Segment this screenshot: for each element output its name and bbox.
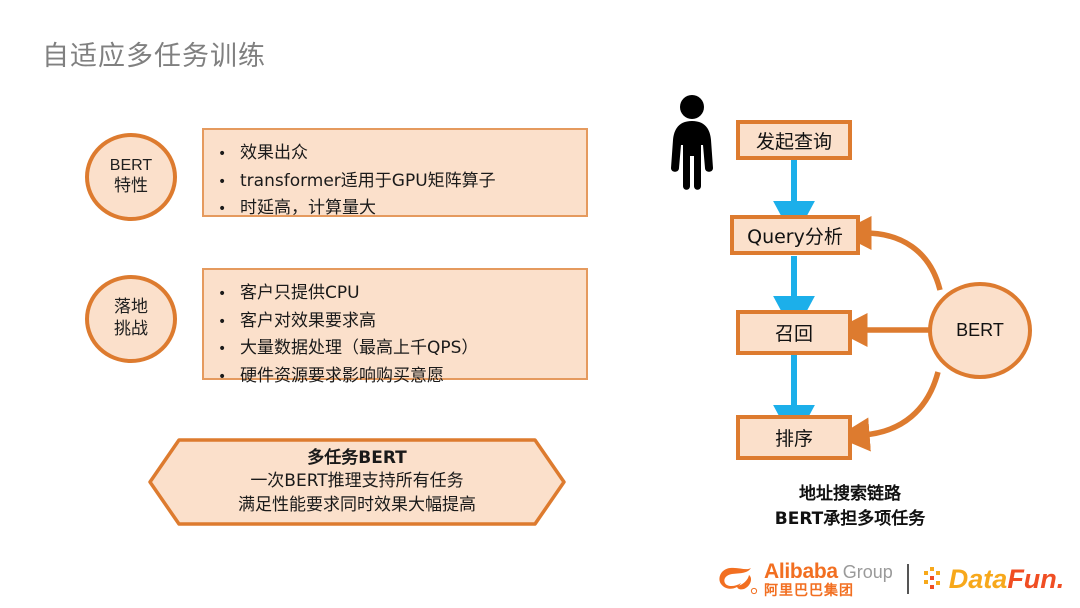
person-icon (671, 95, 713, 190)
flow-node-recall[interactable]: 召回 (736, 310, 852, 355)
flow-node-query-start[interactable]: 发起查询 (736, 120, 852, 160)
bullet-marker-icon: • (218, 198, 240, 221)
bullet-marker-icon: • (218, 143, 240, 166)
datafun-wordmark-fun: Fun. (1007, 564, 1064, 595)
ellipse-line-1: BERT (110, 156, 152, 176)
logo-divider (907, 564, 909, 594)
list-item: • 效果出众 (218, 140, 578, 168)
banner-heading: 多任务BERT (307, 447, 407, 470)
list-item: • 客户只提供CPU (218, 280, 578, 308)
shape-ellipse-landing-challenges: 落地 挑战 (85, 275, 177, 363)
list-item-label: 客户对效果要求高 (240, 308, 578, 336)
datafun-dots-icon (923, 565, 949, 593)
flow-node-label: 召回 (775, 319, 813, 346)
ellipse-line-2: 挑战 (114, 319, 148, 341)
logo-bar: Alibaba Group 阿里巴巴集团 Data Fun. (715, 556, 1064, 602)
flow-node-label: BERT (956, 320, 1004, 341)
banner-line-1: 一次BERT推理支持所有任务 (250, 470, 463, 493)
flow-connectors (660, 90, 1080, 490)
flow-node-label: 排序 (775, 424, 813, 451)
bullet-marker-icon: • (218, 366, 240, 389)
flow-node-label: 发起查询 (756, 127, 832, 154)
alibaba-mark-icon (715, 562, 759, 596)
bullet-box-landing-challenges: • 客户只提供CPU • 客户对效果要求高 • 大量数据处理（最高上千QPS） … (202, 268, 588, 380)
list-item: • 大量数据处理（最高上千QPS） (218, 335, 578, 363)
list-item: • 时延高，计算量大 (218, 195, 578, 223)
flow-node-query-analysis[interactable]: Query分析 (730, 215, 860, 255)
shape-ellipse-bert-features: BERT 特性 (85, 133, 177, 221)
list-item-label: 效果出众 (240, 140, 578, 168)
list-item-label: 时延高，计算量大 (240, 195, 578, 223)
shape-hexagon-multitask-bert: 多任务BERT 一次BERT推理支持所有任务 满足性能要求同时效果大幅提高 (147, 437, 567, 527)
banner-line-2: 满足性能要求同时效果大幅提高 (238, 494, 476, 517)
alibaba-group-label: Group (843, 563, 893, 581)
list-item-label: 硬件资源要求影响购买意愿 (240, 363, 578, 391)
list-item: • 客户对效果要求高 (218, 308, 578, 336)
flowchart: 发起查询 Query分析 召回 排序 BERT (660, 90, 1080, 490)
datafun-logo: Data Fun. (923, 564, 1065, 595)
bullet-marker-icon: • (218, 171, 240, 194)
bullet-marker-icon: • (218, 338, 240, 361)
list-item-label: 客户只提供CPU (240, 280, 578, 308)
alibaba-logo: Alibaba Group 阿里巴巴集团 (715, 561, 893, 598)
list-item-label: transformer适用于GPU矩阵算子 (240, 168, 578, 196)
page-title: 自适应多任务训练 (42, 34, 266, 73)
datafun-wordmark-data: Data (949, 564, 1008, 595)
list-item: • transformer适用于GPU矩阵算子 (218, 168, 578, 196)
bullet-marker-icon: • (218, 283, 240, 306)
flow-caption: 地址搜索链路 BERT承担多项任务 (700, 482, 1000, 531)
flow-node-ranking[interactable]: 排序 (736, 415, 852, 460)
alibaba-chinese-name: 阿里巴巴集团 (764, 584, 893, 598)
list-item-label: 大量数据处理（最高上千QPS） (240, 335, 578, 363)
flow-caption-line-2: BERT承担多项任务 (700, 507, 1000, 532)
flow-node-bert-service[interactable]: BERT (928, 282, 1032, 379)
edge-bert-to-analysis (865, 233, 940, 290)
slide-canvas: 自适应多任务训练 BERT 特性 • 效果出众 • transformer适用于… (0, 0, 1080, 608)
ellipse-line-1: 落地 (114, 297, 148, 319)
list-item: • 硬件资源要求影响购买意愿 (218, 363, 578, 391)
flow-node-label: Query分析 (747, 222, 843, 249)
alibaba-wordmark: Alibaba (764, 561, 838, 582)
bullet-marker-icon: • (218, 311, 240, 334)
edge-bert-to-ranking (863, 372, 938, 435)
ellipse-line-2: 特性 (114, 176, 148, 198)
flow-caption-line-1: 地址搜索链路 (700, 482, 1000, 507)
bullet-box-bert-features: • 效果出众 • transformer适用于GPU矩阵算子 • 时延高，计算量… (202, 128, 588, 217)
